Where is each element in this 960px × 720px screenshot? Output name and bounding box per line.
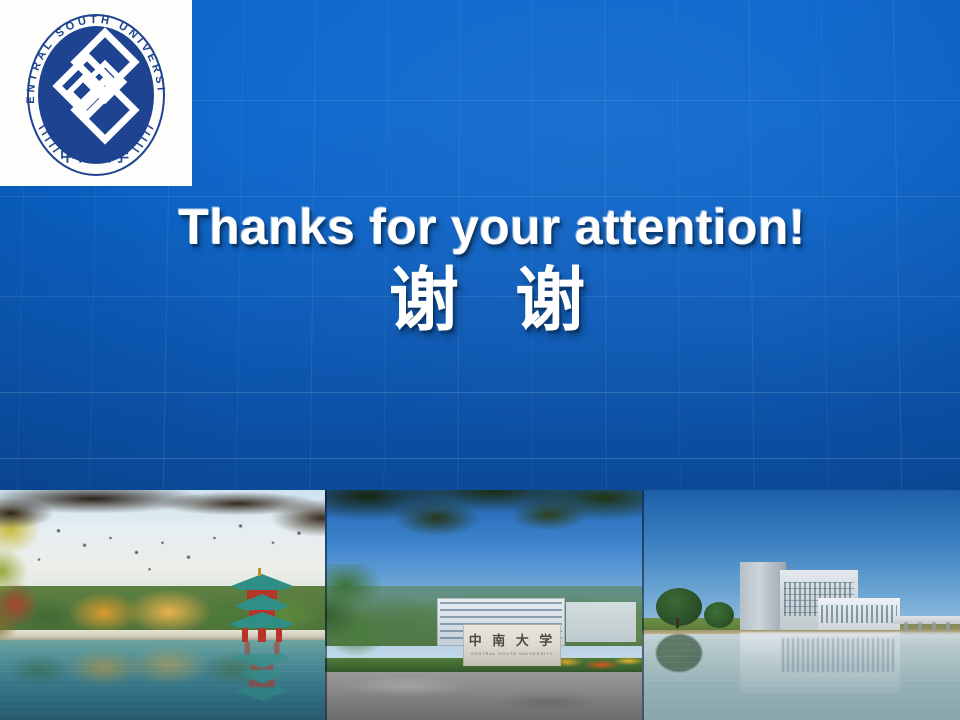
photo3-tree-trunk: [676, 618, 679, 628]
photo-campus-entrance-stone-sign: 中 南 大 学 CENTRAL SOUTH UNIVERSITY: [325, 490, 642, 720]
photo-autumn-lake-park-pagoda: [0, 490, 325, 720]
thanks-headline-english: Thanks for your attention!: [0, 196, 960, 258]
photo-separator: [325, 490, 327, 720]
grid-hline: [0, 392, 960, 393]
photo1-pagoda-reflection: [225, 642, 299, 708]
photo-separator: [642, 490, 644, 720]
photo3-building-low-wing: [818, 598, 900, 630]
university-logo-plaque: CENTRAL SOUTH UNIVERSITY: [0, 0, 192, 186]
photo3-tree-secondary: [704, 602, 734, 628]
photo2-sign-english: CENTRAL SOUTH UNIVERSITY: [471, 651, 554, 656]
svg-text:中南大学: 中南大学: [60, 147, 132, 165]
photo1-pagoda-icon: [225, 566, 299, 642]
photo2-distant-building: [566, 602, 636, 642]
photo2-left-trees: [325, 564, 429, 662]
thanks-headline-chinese: 谢 谢: [0, 258, 960, 342]
photo2-road: [325, 672, 642, 720]
photo2-tree-canopy: [325, 490, 642, 560]
closing-message: Thanks for your attention! 谢 谢: [0, 196, 960, 342]
university-seal-icon: CENTRAL SOUTH UNIVERSITY: [12, 7, 180, 179]
photo3-water-sheen: [642, 638, 960, 720]
photo3-tree: [656, 588, 702, 626]
photo2-sign-chinese: 中 南 大 学: [469, 634, 556, 649]
campus-photo-strip: 中 南 大 学 CENTRAL SOUTH UNIVERSITY: [0, 490, 960, 720]
slide-canvas: CENTRAL SOUTH UNIVERSITY: [0, 0, 960, 720]
photo-lakeside-modern-building: [642, 490, 960, 720]
photo2-stone-sign: 中 南 大 学 CENTRAL SOUTH UNIVERSITY: [463, 624, 561, 666]
grid-hline: [0, 458, 960, 459]
